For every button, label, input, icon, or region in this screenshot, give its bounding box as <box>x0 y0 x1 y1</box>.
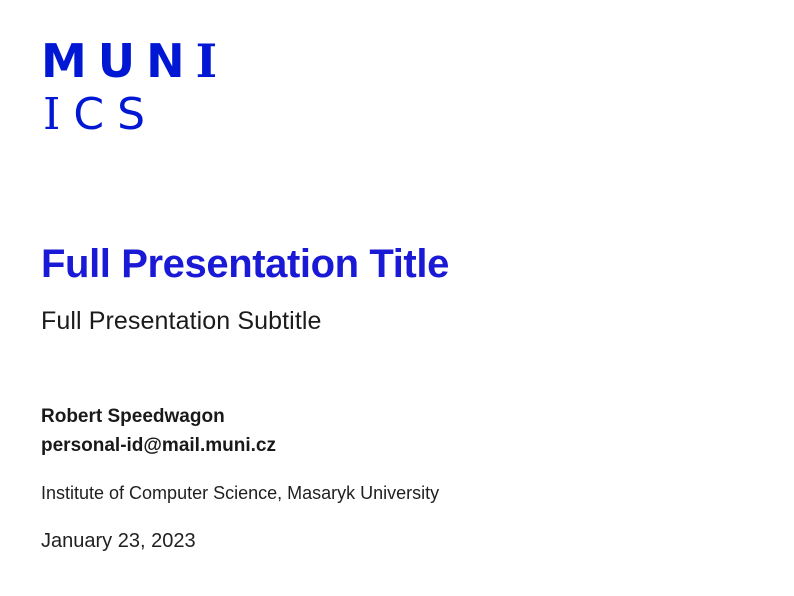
logo-letter-n: N <box>146 34 196 88</box>
logo-wordmark-ics: ICS <box>41 93 228 137</box>
logo-letter-i: I <box>196 34 229 88</box>
title-slide: MUNI ICS Full Presentation Title Full Pr… <box>0 0 794 596</box>
logo-letter-i2: I <box>43 89 73 140</box>
author-name: Robert Speedwagon <box>41 406 225 429</box>
logo-letter-m: M <box>41 34 98 88</box>
presentation-date: January 23, 2023 <box>41 529 196 553</box>
author-email: personal-id@mail.muni.cz <box>41 435 276 458</box>
logo-wordmark-muni: MUNI <box>41 38 228 84</box>
logo-letter-c: C <box>73 89 117 140</box>
logo-letter-u: U <box>98 34 146 88</box>
presentation-subtitle: Full Presentation Subtitle <box>41 306 322 336</box>
presentation-title: Full Presentation Title <box>41 243 449 285</box>
affiliation-text: Institute of Computer Science, Masaryk U… <box>41 483 439 505</box>
muni-ics-logo: MUNI ICS <box>41 38 228 137</box>
logo-letter-s: S <box>117 89 158 140</box>
